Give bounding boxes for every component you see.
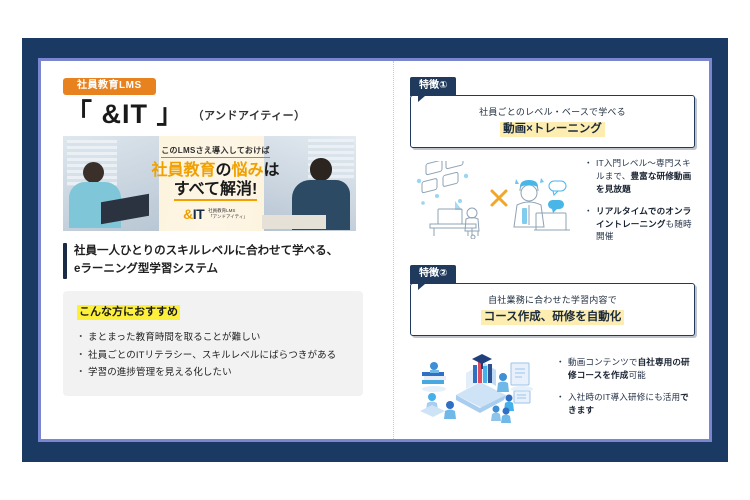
bullet-2-1-normal-2: 可能 xyxy=(628,370,645,380)
hero-logo-it: IT xyxy=(193,206,204,222)
elearning-laptop-books-illustration xyxy=(410,345,550,427)
feature-callout-2: 自社業務に合わせた学習内容で コース作成、研修を自動化 xyxy=(410,283,695,336)
hero-logo-caption-line2: 「アンドアイティ」 xyxy=(208,214,248,220)
bullet-2-2-normal: 入社時のIT導入研修にも活用 xyxy=(568,392,680,402)
lead-statement: 社員一人ひとりのスキルレベルに合わせて学べる、 eラーニング型学習システム xyxy=(63,243,375,279)
feature-tag-1: 特徴① xyxy=(410,77,456,96)
hero-logo-ampersand: & xyxy=(183,206,193,222)
hero-kicker: このLMSさえ導入しておけば xyxy=(161,145,270,158)
list-item: 動画コンテンツで自社専用の研修コースを作成可能 xyxy=(558,356,695,382)
hero-person-left-head xyxy=(83,162,104,183)
product-title-reading: （アンドアイティー） xyxy=(193,107,306,123)
hero-logo-lockup: &IT 社員教育LMS 「アンドアイティ」 xyxy=(183,206,248,222)
feature-callout-2-line1: 自社業務に合わせた学習内容で xyxy=(421,293,684,306)
feature-block-2: 特徴② 自社業務に合わせた学習内容で コース作成、研修を自動化 xyxy=(410,263,695,427)
hero-headline-line1: 社員教育の悩みは xyxy=(151,162,279,180)
recommendation-box: こんな方におすすめ まとまった教育時間を取ることが難しい 社員ごとのITリテラシ… xyxy=(63,291,363,396)
lead-text-line1: 社員一人ひとりのスキルレベルに合わせて学べる、 xyxy=(74,243,338,261)
lead-text-line2: eラーニング型学習システム xyxy=(74,261,338,279)
feature-callout-1: 社員ごとのレベル・ベースで学べる 動画×トレーニング xyxy=(410,95,695,148)
feature-callout-1-line1: 社員ごとのレベル・ベースで学べる xyxy=(421,105,684,118)
left-panel: 社員教育LMS 「 &IT 」 （アンドアイティー） xyxy=(41,61,394,439)
slide-frame: 社員教育LMS 「 &IT 」 （アンドアイティー） xyxy=(22,38,728,462)
feature-callout-1-line2: 動画×トレーニング xyxy=(500,122,605,137)
feature-block-1: 特徴① 社員ごとのレベル・ベースで学べる 動画×トレーニング xyxy=(410,75,695,243)
list-item: 入社時のIT導入研修にも活用できます xyxy=(558,391,695,417)
product-category-badge: 社員教育LMS xyxy=(63,78,156,95)
feature-callout-2-line2: コース作成、研修を自動化 xyxy=(481,310,624,325)
feature-1-bullets: IT入門レベル〜専門スキルまで、豊富な研修動画を見放題 リアルタイムでのオンライ… xyxy=(586,157,695,243)
hero-banner-image: このLMSさえ導入しておけば 社員教育の悩みは すべて解消! &IT 社員教育L… xyxy=(63,136,356,231)
hero-headline-accent-2: 悩み xyxy=(232,162,264,179)
feature-2-bullets: 動画コンテンツで自社専用の研修コースを作成可能 入社時のIT導入研修にも活用でき… xyxy=(558,356,695,417)
feature-tag-2: 特徴② xyxy=(410,265,456,284)
page-title: 「 &IT 」 （アンドアイティー） xyxy=(65,100,375,128)
hero-person-right-head xyxy=(310,158,332,181)
elearning-laptop-icon xyxy=(410,345,550,427)
bullet-2-1-normal: 動画コンテンツで xyxy=(568,357,638,367)
hero-headline-accent-1: 社員教育 xyxy=(151,162,215,179)
feature-body-2: 動画コンテンツで自社専用の研修コースを作成可能 入社時のIT導入研修にも活用でき… xyxy=(410,345,695,427)
video-and-trainer-icon xyxy=(410,161,578,239)
hero-logo-caption: 社員教育LMS 「アンドアイティ」 xyxy=(208,208,248,220)
list-item: リアルタイムでのオンライントレーニングも随時開催 xyxy=(586,205,695,244)
video-and-trainer-illustration xyxy=(410,161,578,239)
recommendation-list: まとまった教育時間を取ることが難しい 社員ごとのITリテラシー、スキルレベルにば… xyxy=(77,329,349,382)
hero-photo-left xyxy=(63,136,159,231)
product-title: 「 &IT 」 xyxy=(65,100,185,128)
slide-inner-frame: 社員教育LMS 「 &IT 」 （アンドアイティー） xyxy=(38,58,712,442)
list-item: IT入門レベル〜専門スキルまで、豊富な研修動画を見放題 xyxy=(586,157,695,196)
list-item: 社員ごとのITリテラシー、スキルレベルにばらつきがある xyxy=(77,347,349,365)
recommendation-title: こんな方におすすめ xyxy=(77,305,180,320)
hero-headline-plain-2: は xyxy=(264,162,280,179)
hero-headline-plain-1: の xyxy=(215,162,231,179)
hero-headline-line2: すべて解消! xyxy=(174,181,258,201)
hero-text-block: このLMSさえ導入しておけば 社員教育の悩みは すべて解消! &IT 社員教育L… xyxy=(151,136,280,231)
lead-text: 社員一人ひとりのスキルレベルに合わせて学べる、 eラーニング型学習システム xyxy=(74,243,338,279)
slide-content: 社員教育LMS 「 &IT 」 （アンドアイティー） xyxy=(41,61,709,439)
lead-accent-bar xyxy=(63,243,67,279)
list-item: まとまった教育時間を取ることが難しい xyxy=(77,329,349,347)
feature-body-1: IT入門レベル〜専門スキルまで、豊富な研修動画を見放題 リアルタイムでのオンライ… xyxy=(410,157,695,243)
hero-logo: &IT xyxy=(183,206,204,222)
list-item: 学習の進捗管理を見える化したい xyxy=(77,364,349,382)
right-panel: 特徴① 社員ごとのレベル・ベースで学べる 動画×トレーニング xyxy=(394,61,709,439)
